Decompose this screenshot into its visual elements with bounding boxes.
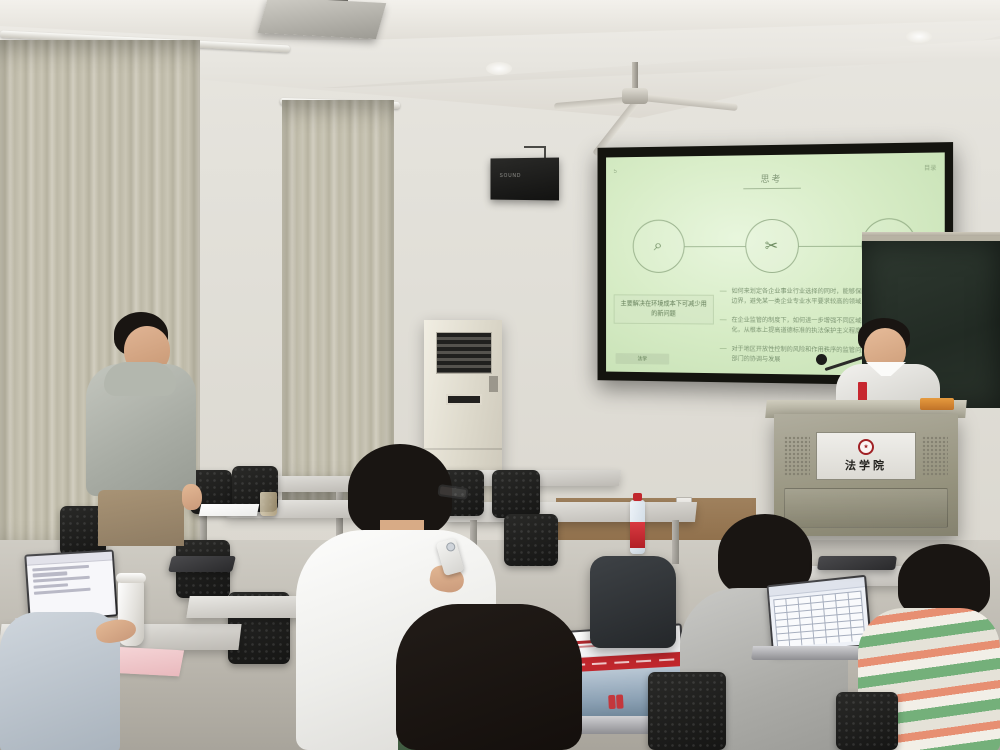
hoodie-hood bbox=[104, 362, 176, 396]
student-left-blue bbox=[0, 592, 136, 750]
hero-figure bbox=[616, 695, 624, 709]
podium-speaker-vent-left bbox=[784, 436, 810, 476]
wall-speaker: SOUND bbox=[491, 158, 560, 201]
nav-item[interactable] bbox=[614, 661, 629, 664]
document-line bbox=[33, 572, 68, 578]
laptop-right-spreadsheet[interactable] bbox=[767, 575, 873, 654]
bullet-dash-icon: — bbox=[720, 316, 727, 336]
window-curtain-middle bbox=[282, 100, 394, 500]
student-dark-hair bbox=[396, 604, 582, 750]
desk-leg bbox=[672, 520, 679, 564]
document-line bbox=[34, 583, 69, 589]
app-toolbar bbox=[26, 552, 112, 566]
ac-vent-grill bbox=[436, 332, 492, 374]
podium-name-plate: ★ 法学院 bbox=[816, 432, 916, 480]
bottle-label bbox=[630, 522, 645, 548]
podium-sign-text: 法学院 bbox=[845, 457, 887, 473]
speaker-brand-label: SOUND bbox=[500, 173, 522, 179]
backpack[interactable] bbox=[590, 556, 676, 648]
laptop-lid bbox=[767, 575, 873, 654]
slide-title-underline bbox=[743, 188, 801, 190]
laptop-lid bbox=[168, 556, 236, 572]
water-bottle[interactable] bbox=[630, 500, 645, 554]
microphone-head-icon bbox=[816, 354, 827, 365]
hero-figure bbox=[608, 695, 616, 709]
classroom-chair[interactable] bbox=[648, 672, 726, 750]
classroom-photo: SOUND 5 目录 思考 ⌕ ✂ ➤ 主要解决在环境成本下可减少用的新问题 — bbox=[0, 0, 1000, 750]
slide-callout-box: 主要解决在环境成本下可减少用的新问题 bbox=[614, 294, 714, 324]
phone-camera-icon bbox=[445, 541, 456, 552]
slide-corner-mark: 目录 bbox=[924, 163, 936, 172]
spreadsheet-grid[interactable] bbox=[773, 591, 865, 648]
classroom-chair[interactable] bbox=[836, 692, 898, 750]
bullet-dash-icon: — bbox=[720, 345, 727, 365]
hand bbox=[182, 484, 202, 510]
node-connector bbox=[684, 246, 745, 247]
slide-footer-tag: 法学 bbox=[616, 353, 670, 365]
nav-item[interactable] bbox=[659, 659, 674, 662]
slide-title: 思考 bbox=[761, 172, 783, 185]
document-line bbox=[33, 576, 90, 583]
board-eraser[interactable] bbox=[920, 398, 954, 410]
laptop-screen[interactable] bbox=[769, 577, 870, 651]
fan-hub bbox=[622, 88, 648, 104]
closed-laptop[interactable] bbox=[168, 556, 236, 572]
glass-cup[interactable] bbox=[260, 492, 277, 516]
recessed-light bbox=[906, 30, 932, 43]
ac-display-panel bbox=[446, 394, 482, 405]
nav-item[interactable] bbox=[636, 660, 651, 663]
bullet-dash-icon: — bbox=[720, 287, 727, 307]
legs-trousers bbox=[98, 490, 184, 546]
classroom-chair[interactable] bbox=[504, 514, 558, 566]
spreadsheet-ui bbox=[769, 577, 870, 651]
standing-man-gray-hoodie bbox=[86, 312, 208, 542]
bottle-cap bbox=[633, 493, 642, 501]
nav-item[interactable] bbox=[592, 663, 607, 666]
university-emblem-icon: ★ bbox=[858, 439, 874, 455]
document-line bbox=[32, 564, 89, 571]
tumbler-lid bbox=[116, 573, 146, 583]
hair bbox=[898, 544, 990, 618]
magnifier-icon: ⌕ bbox=[632, 220, 684, 273]
slide-callout-text: 主要解决在环境成本下可减少用的新问题 bbox=[619, 299, 708, 319]
ceiling-projector bbox=[258, 0, 387, 39]
node-connector bbox=[798, 245, 861, 246]
ac-badge bbox=[489, 376, 498, 392]
podium-speaker-vent-right bbox=[922, 436, 948, 476]
scissors-icon: ✂ bbox=[745, 219, 799, 273]
recessed-light bbox=[486, 62, 512, 75]
hair bbox=[396, 604, 582, 750]
slide-page-marker: 5 bbox=[614, 169, 617, 175]
